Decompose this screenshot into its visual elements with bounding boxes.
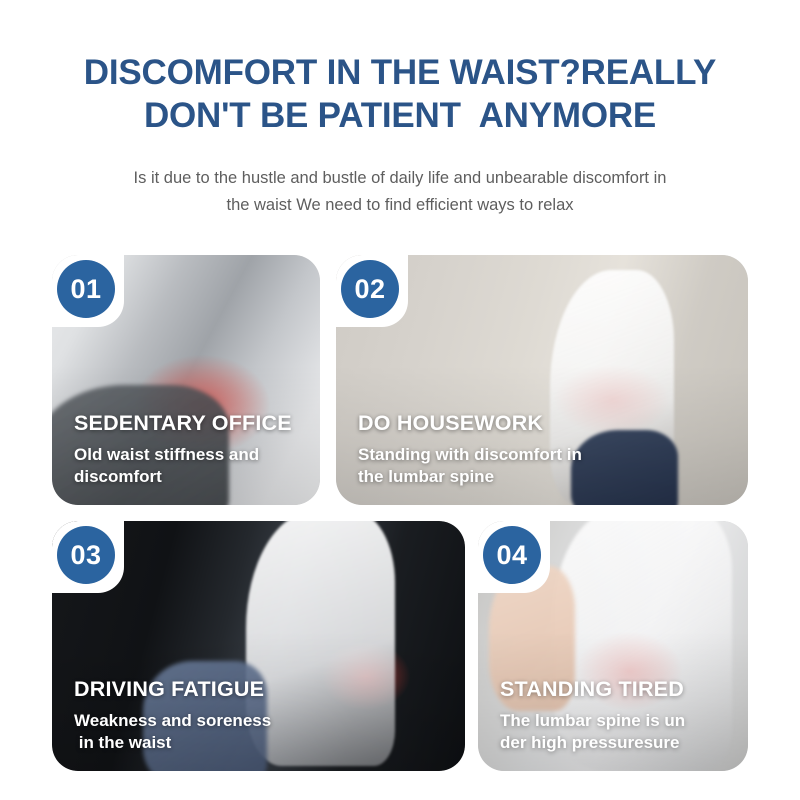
- card-text-block: SEDENTARY OFFICE Old waist stiffness and…: [74, 411, 304, 489]
- card-description: Weakness and soreness in the waist: [74, 710, 449, 755]
- card-title: STANDING TIRED: [500, 677, 732, 702]
- card-badge-04: 04: [483, 526, 541, 584]
- card-desc-line-2: discomfort: [74, 466, 304, 489]
- card-description: Old waist stiffness and discomfort: [74, 444, 304, 489]
- page-subtitle: Is it due to the hustle and bustle of da…: [44, 165, 756, 218]
- card-text-block: DO HOUSEWORK Standing with discomfort in…: [358, 411, 732, 489]
- promo-page: DISCOMFORT IN THE WAIST?REALLY DON'T BE …: [0, 0, 800, 800]
- headline-line-2: DON'T BE PATIENT ANYMORE: [44, 95, 756, 138]
- card-title: SEDENTARY OFFICE: [74, 411, 304, 436]
- card-sedentary-office[interactable]: 01 SEDENTARY OFFICE Old waist stiffness …: [52, 255, 320, 505]
- card-do-housework[interactable]: 02 DO HOUSEWORK Standing with discomfort…: [336, 255, 748, 505]
- card-badge-01: 01: [57, 260, 115, 318]
- headline-line-1: DISCOMFORT IN THE WAIST?REALLY: [44, 52, 756, 95]
- card-desc-line-2: the lumbar spine: [358, 466, 732, 489]
- card-driving-fatigue[interactable]: 03 DRIVING FATIGUE Weakness and soreness…: [52, 521, 465, 771]
- card-grid-row-1: 01 SEDENTARY OFFICE Old waist stiffness …: [52, 255, 748, 505]
- subtitle-line-2: the waist We need to find efficient ways…: [68, 192, 732, 219]
- card-description: Standing with discomfort in the lumbar s…: [358, 444, 732, 489]
- card-text-block: DRIVING FATIGUE Weakness and soreness in…: [74, 677, 449, 755]
- card-desc-line-2: in the waist: [74, 732, 449, 755]
- card-grid-row-2: 03 DRIVING FATIGUE Weakness and soreness…: [52, 521, 748, 771]
- card-desc-line-1: The lumbar spine is un: [500, 710, 732, 733]
- card-desc-line-2: der high pressuresure: [500, 732, 732, 755]
- card-desc-line-1: Weakness and soreness: [74, 710, 449, 733]
- header: DISCOMFORT IN THE WAIST?REALLY DON'T BE …: [0, 0, 800, 219]
- card-title: DO HOUSEWORK: [358, 411, 732, 436]
- subtitle-line-1: Is it due to the hustle and bustle of da…: [68, 165, 732, 192]
- page-title: DISCOMFORT IN THE WAIST?REALLY DON'T BE …: [44, 52, 756, 137]
- card-badge-02: 02: [341, 260, 399, 318]
- card-description: The lumbar spine is un der high pressure…: [500, 710, 732, 755]
- card-desc-line-1: Old waist stiffness and: [74, 444, 304, 467]
- card-text-block: STANDING TIRED The lumbar spine is un de…: [500, 677, 732, 755]
- card-desc-line-1: Standing with discomfort in: [358, 444, 732, 467]
- card-title: DRIVING FATIGUE: [74, 677, 449, 702]
- card-standing-tired[interactable]: 04 STANDING TIRED The lumbar spine is un…: [478, 521, 748, 771]
- card-badge-03: 03: [57, 526, 115, 584]
